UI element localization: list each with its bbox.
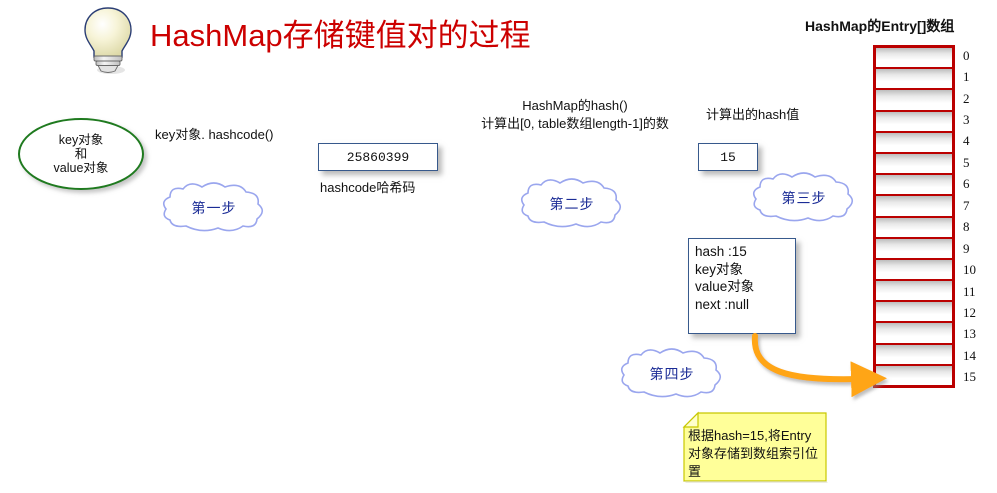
step-cloud-1: 第一步 [160,182,268,234]
lightbulb-icon [78,4,138,76]
entry-hash-field: hash :15 [695,243,795,261]
array-cell [876,345,952,366]
array-index-label: 7 [963,195,993,216]
array-index-label: 1 [963,66,993,87]
hashcode-caption: hashcode哈希码 [320,177,415,196]
array-cell [876,239,952,260]
entry-next-field: next :null [695,296,795,314]
sticky-note-text: 根据hash=15,将Entry对象存储到数组索引位置 [688,427,824,481]
step-cloud-1-label: 第一步 [192,198,237,218]
array-cell [876,218,952,239]
array-index-label: 4 [963,131,993,152]
array-index-label: 8 [963,217,993,238]
array-cell [876,281,952,302]
diagram-canvas: HashMap存储键值对的过程 key对象 和 value对象 key对象. h… [0,0,997,493]
key-value-source-ellipse: key对象 和 value对象 [18,118,144,190]
entry-array [873,45,955,388]
array-index-label: 3 [963,109,993,130]
array-cell [876,260,952,281]
array-index-label: 13 [963,324,993,345]
arrow2-label-line2: 计算出[0, table数组length-1]的数 [450,115,700,133]
source-line-2: 和 [75,147,88,161]
array-index-label: 10 [963,259,993,280]
array-index-label: 11 [963,281,993,302]
array-cell [876,133,952,154]
step-cloud-2: 第二步 [518,178,626,230]
step-cloud-2-label: 第二步 [550,194,595,214]
array-index-label: 12 [963,302,993,323]
entry-key-field: key对象 [695,261,795,279]
source-line-1: key对象 [59,133,103,147]
array-cell [876,112,952,133]
array-cell [876,90,952,111]
array-cell [876,366,952,385]
array-index-label: 14 [963,345,993,366]
source-line-3: value对象 [54,161,109,175]
array-cell [876,175,952,196]
array-index-label: 6 [963,174,993,195]
hash-value-box: 15 [698,143,758,171]
array-cell [876,48,952,69]
array-index-label: 5 [963,152,993,173]
array-cell [876,69,952,90]
entry-array-index-labels: 0 1 2 3 4 5 6 7 8 9 10 11 12 13 14 15 [963,45,993,388]
array-cell [876,302,952,323]
entry-object-box: hash :15 key对象 value对象 next :null [688,238,796,334]
array-index-label: 9 [963,238,993,259]
array-cell [876,154,952,175]
array-index-label: 0 [963,45,993,66]
page-title: HashMap存储键值对的过程 [150,10,531,55]
arrow-overlay [0,0,997,493]
arrow-4-orange [755,336,860,379]
hashcode-value-box: 25860399 [318,143,438,171]
arrow2-label-line1: HashMap的hash() [450,97,700,115]
step-cloud-4-label: 第四步 [650,364,695,384]
sticky-note: 根据hash=15,将Entry对象存储到数组索引位置 [680,411,828,483]
array-cell [876,323,952,344]
entry-array-title: HashMap的Entry[]数组 [805,16,954,36]
array-cell [876,196,952,217]
step-cloud-3: 第三步 [750,172,858,224]
step-cloud-3-label: 第三步 [782,188,827,208]
arrow2-label: HashMap的hash() 计算出[0, table数组length-1]的数 [450,97,700,132]
arrow1-label: key对象. hashcode() [155,124,274,143]
step-cloud-4: 第四步 [618,348,726,400]
array-index-label: 15 [963,367,993,388]
entry-value-field: value对象 [695,278,795,296]
arrow3-label: 计算出的hash值 [706,104,799,123]
array-index-label: 2 [963,88,993,109]
